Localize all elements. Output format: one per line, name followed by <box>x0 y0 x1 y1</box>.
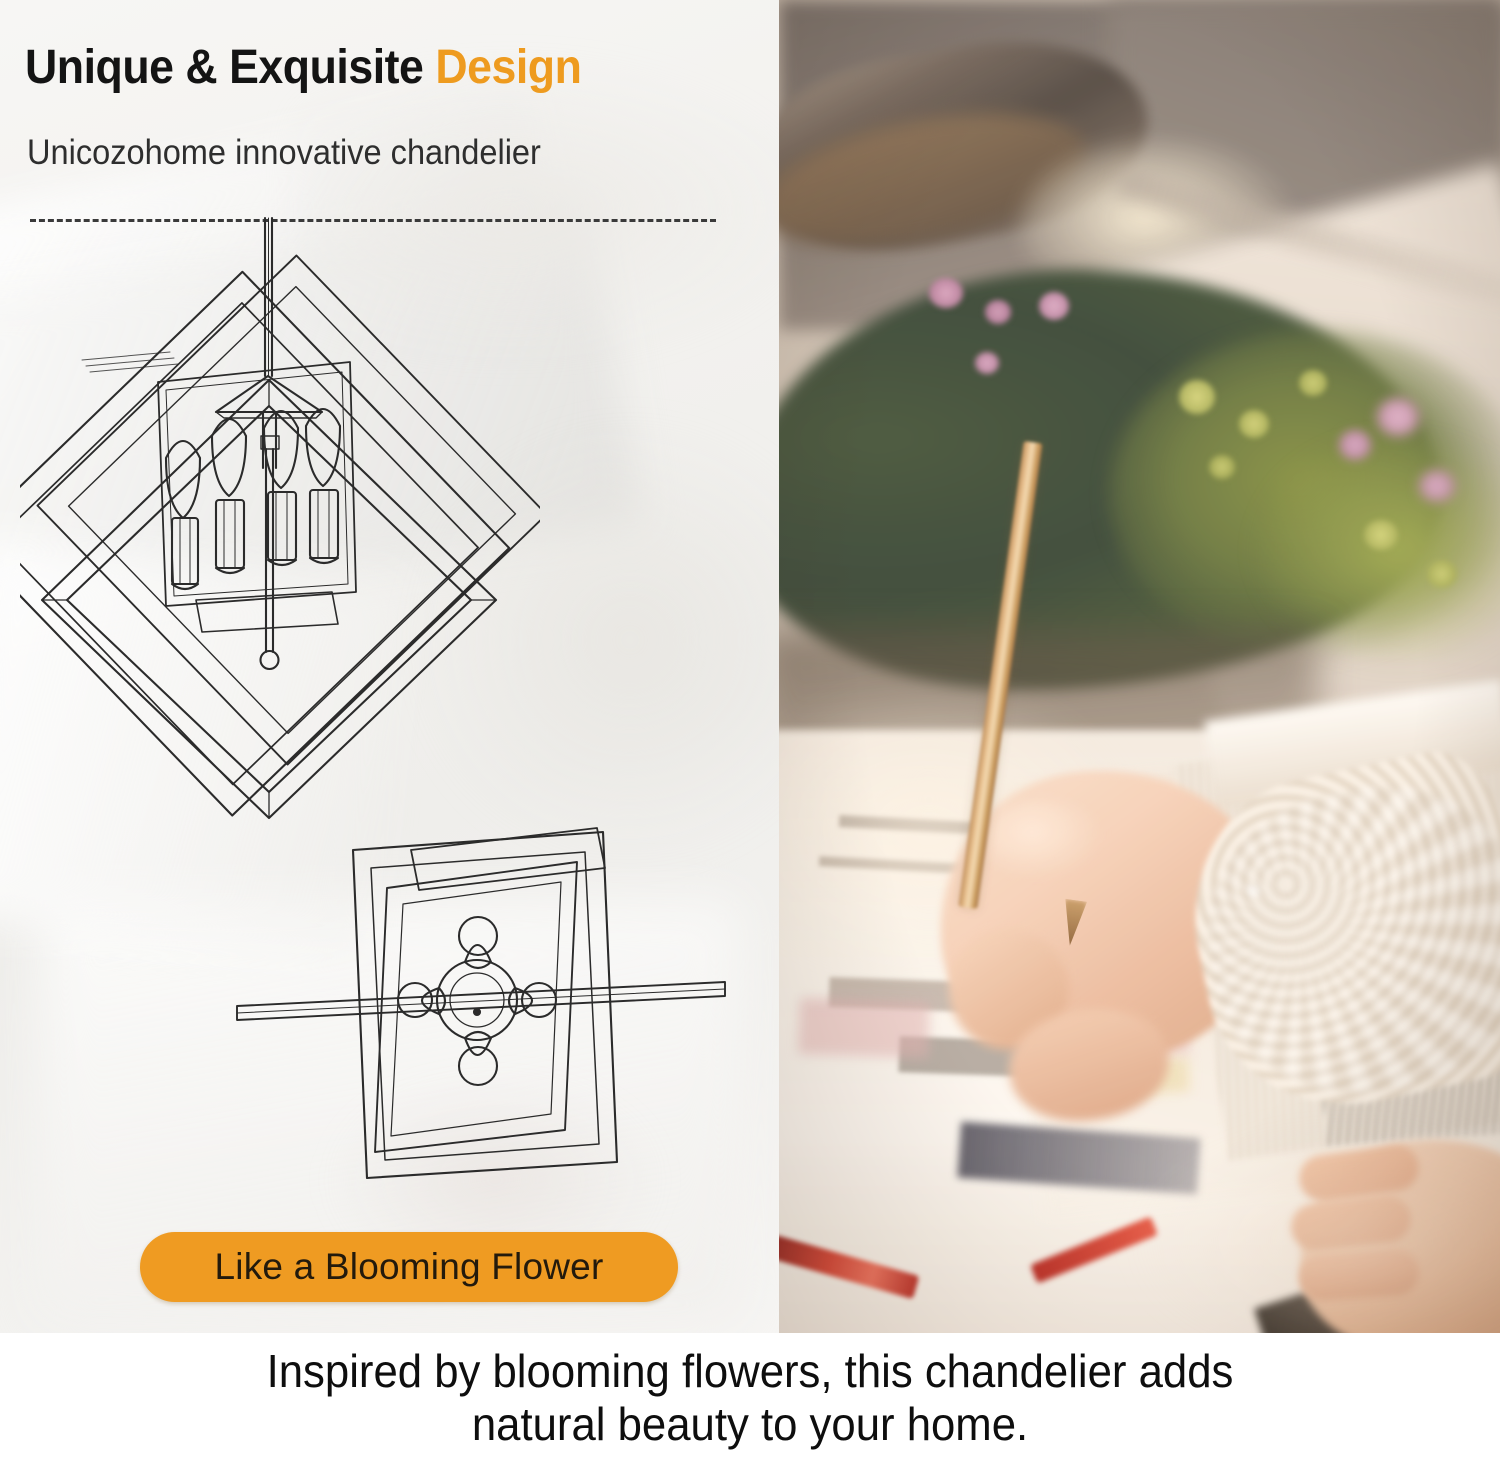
page-title-main: Unique & Exquisite <box>25 41 435 94</box>
page-title-accent: Design <box>435 41 581 94</box>
footer-caption-line-1: Inspired by blooming flowers, this chand… <box>38 1345 1463 1398</box>
page-subtitle: Unicozohome innovative chandelier <box>27 133 541 173</box>
status-badge-label: Like a Blooming Flower <box>215 1246 604 1288</box>
footer-caption: Inspired by blooming flowers, this chand… <box>38 1345 1463 1452</box>
chandelier-assembled-sketch <box>20 200 540 900</box>
chandelier-folded-sketch <box>225 810 745 1210</box>
status-badge: Like a Blooming Flower <box>140 1232 678 1302</box>
footer-caption-line-2: natural beauty to your home. <box>38 1398 1463 1451</box>
left-panel: Unique & Exquisite Design Unicozohome in… <box>0 0 779 1333</box>
marketing-banner: Unique & Exquisite Design Unicozohome in… <box>0 0 1500 1477</box>
lifestyle-photo <box>779 0 1500 1333</box>
page-title: Unique & Exquisite Design <box>25 40 581 95</box>
